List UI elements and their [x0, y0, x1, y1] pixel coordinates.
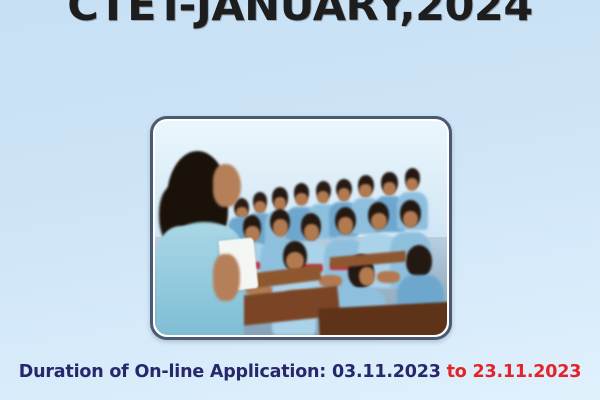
- student-face: [304, 224, 319, 241]
- classroom-photo-frame: [150, 116, 452, 340]
- ctet-notification-poster: CTET-JANUARY,2024: [0, 0, 600, 400]
- student-face: [338, 188, 350, 201]
- application-duration-navy-text: Duration of On-line Application: 03.11.2…: [19, 362, 441, 382]
- teacher-face: [213, 164, 241, 207]
- student-face: [338, 217, 354, 235]
- photo-inner-border: [155, 121, 447, 335]
- application-duration-caption: Duration of On-line Application: 03.11.2…: [0, 362, 600, 382]
- student-face: [273, 219, 288, 236]
- student-head: [406, 245, 432, 277]
- student-hand: [319, 275, 342, 287]
- student-face: [295, 193, 308, 206]
- teacher-arm: [213, 254, 239, 301]
- student-face: [371, 213, 386, 230]
- student-face: [317, 191, 329, 204]
- page-title: CTET-JANUARY,2024: [0, 0, 600, 31]
- student-face: [383, 182, 396, 196]
- student-hand: [377, 271, 400, 283]
- application-duration-red-text: to 23.11.2023: [447, 362, 582, 382]
- classroom-photo: [155, 121, 447, 335]
